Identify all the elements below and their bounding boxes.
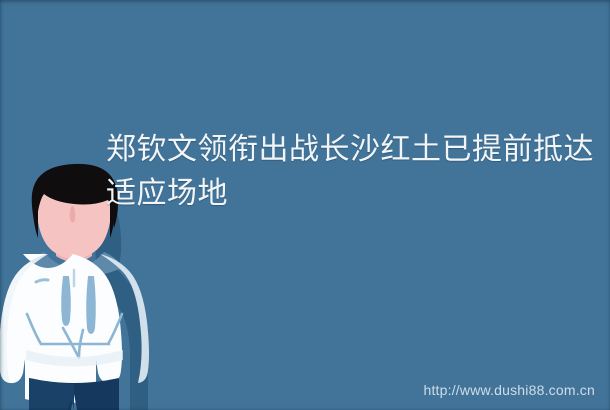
- news-thumbnail-card: 郑钦文领衔出战长沙红土已提前抵达适应场地 http://www.dushi88.…: [0, 0, 610, 410]
- watermark-url: http://www.dushi88.com.cn: [423, 382, 595, 398]
- headline-text: 郑钦文领衔出战长沙红土已提前抵达适应场地: [106, 128, 598, 216]
- figure-hoodie: [0, 254, 149, 404]
